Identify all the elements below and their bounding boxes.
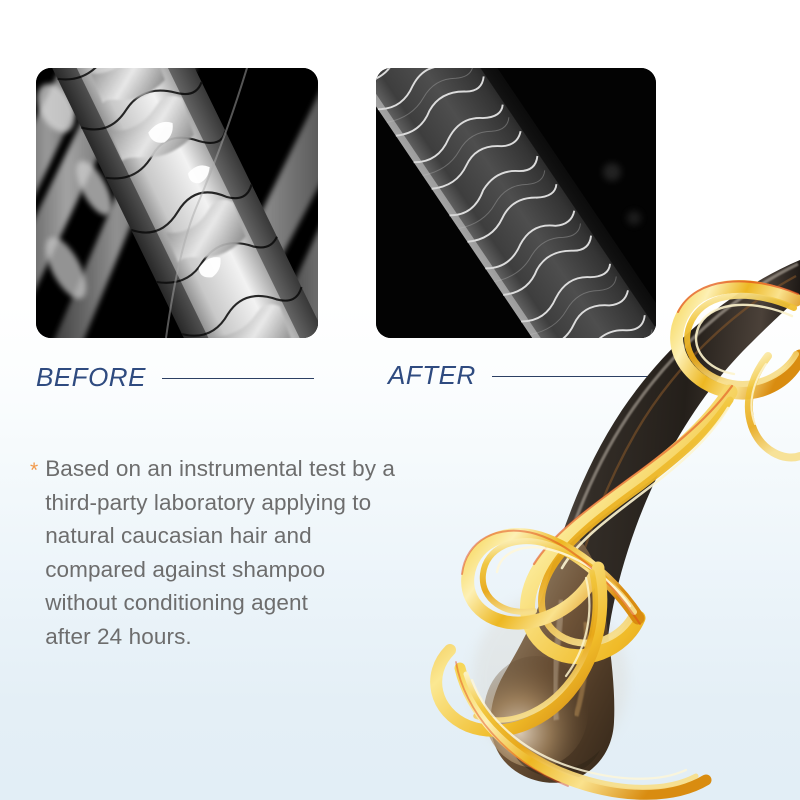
- after-rule: [492, 376, 656, 377]
- before-caption-row: BEFORE: [36, 360, 314, 394]
- after-micrograph-image: [376, 68, 656, 338]
- oil-ribbon-tail: [456, 662, 706, 794]
- before-label: BEFORE: [36, 362, 146, 393]
- before-micrograph-svg: [36, 68, 318, 338]
- before-rule: [162, 378, 314, 379]
- after-micrograph-svg: [376, 68, 656, 338]
- droplet-halo: [472, 594, 628, 766]
- footnote-text: Based on an instrumental test by a third…: [45, 452, 395, 653]
- oil-ribbon-lower: [436, 568, 601, 731]
- infographic-page: BEFORE AFTER * Based on an instrumental …: [0, 0, 800, 800]
- oil-ribbon-top: [677, 281, 800, 393]
- before-micrograph-image: [36, 68, 318, 338]
- footnote-block: * Based on an instrumental test by a thi…: [30, 452, 450, 653]
- oil-ribbon-middle: [528, 386, 733, 657]
- after-label: AFTER: [388, 360, 476, 391]
- footnote-asterisk: *: [30, 460, 38, 481]
- oil-droplet: [484, 538, 614, 783]
- after-caption-row: AFTER: [388, 358, 656, 392]
- oil-ribbon-left: [462, 531, 640, 624]
- oil-ribbon-accent: [749, 356, 800, 458]
